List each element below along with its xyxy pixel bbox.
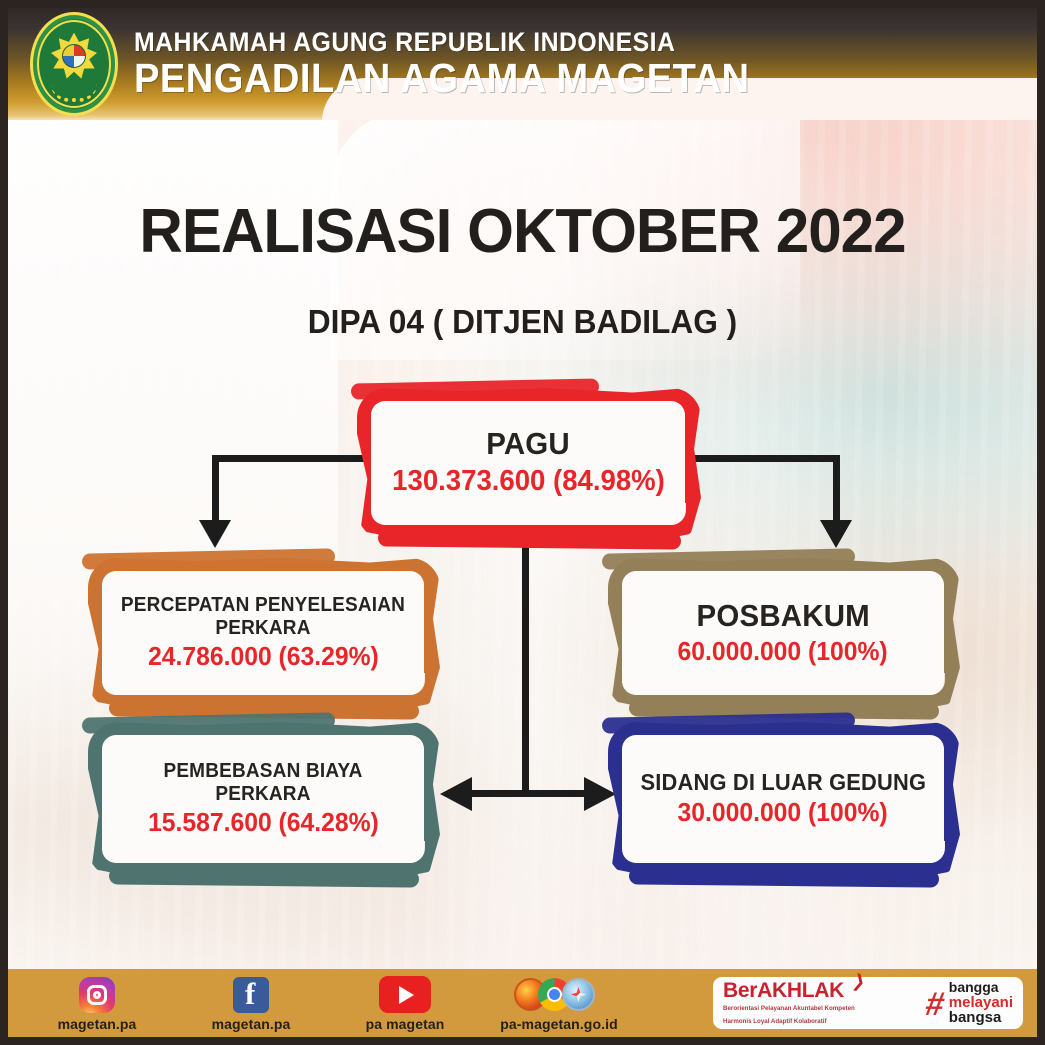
node-pagu[interactable]: PAGU 130.373.600 (84.98%)	[357, 388, 701, 540]
hash-icon: #	[924, 987, 948, 1020]
brush-bottom	[109, 867, 419, 887]
node-posbakum[interactable]: POSBAKUM 60.000.000 (100%)	[608, 558, 960, 710]
header-line1: MAHKAMAH AGUNG REPUBLIK INDONESIA	[134, 29, 743, 56]
node-face: POSBAKUM 60.000.000 (100%)	[622, 571, 944, 695]
node-label: PAGU	[486, 427, 570, 462]
social-caption: magetan.pa	[38, 1016, 156, 1032]
berakhlak-tagline-2: Harmonis Loyal Adaptif Kolaboratif	[723, 1017, 855, 1026]
connector-horizontal-bottom	[468, 790, 584, 797]
header-content: MAHKAMAH AGUNG REPUBLIK INDONESIA PENGAD…	[8, 8, 1037, 120]
berakhlak-logo: BerAKHLAK❭ Berorientasi Pelayanan Akunta…	[713, 977, 1023, 1029]
page-subtitle: DIPA 04 ( DITJEN BADILAG )	[21, 303, 1024, 341]
berakhlak-main: AKHLAK	[757, 979, 844, 1002]
node-label: POSBAKUM	[696, 599, 869, 634]
node-face: PAGU 130.373.600 (84.98%)	[371, 401, 685, 525]
slogan-lines: bangga melayani bangsa	[949, 980, 1013, 1025]
node-value: 60.000.000 (100%)	[678, 637, 888, 667]
slogan-line-1: bangga	[949, 980, 1013, 994]
arrow-left-icon	[440, 777, 472, 811]
node-face: PERCEPATAN PENYELESAIAN PERKARA 24.786.0…	[102, 571, 424, 695]
slogan-line-3: bangsa	[949, 1010, 1013, 1025]
page-title: REALISASI OKTOBER 2022	[16, 196, 1030, 267]
bangga-melayani-bangsa: # bangga melayani bangsa	[926, 980, 1013, 1025]
social-caption: pa-magetan.go.id	[500, 1016, 618, 1032]
connector-vertical-left	[212, 455, 219, 527]
arrow-down-left-icon	[199, 520, 231, 548]
social-links: magetan.pa f magetan.pa pa magetan	[8, 975, 713, 1032]
node-face: PEMBEBASAN BIAYA PERKARA 15.587.600 (64.…	[102, 735, 424, 863]
seal-crest	[62, 44, 86, 68]
header-titles: MAHKAMAH AGUNG REPUBLIK INDONESIA PENGAD…	[134, 29, 796, 100]
node-label: PERCEPATAN PENYELESAIAN PERKARA	[120, 594, 407, 639]
berakhlak-tagline-1: Berorientasi Pelayanan Akuntabel Kompete…	[723, 1004, 855, 1013]
node-value: 130.373.600 (84.98%)	[392, 465, 665, 498]
node-value: 30.000.000 (100%)	[678, 798, 888, 828]
berakhlak-word: BerAKHLAK❭	[723, 980, 855, 1001]
node-value: 24.786.000 (63.29%)	[148, 642, 379, 672]
brush-bottom	[629, 867, 939, 887]
node-face: SIDANG DI LUAR GEDUNG 30.000.000 (100%)	[622, 735, 944, 863]
social-caption: magetan.pa	[192, 1016, 310, 1032]
social-caption: pa magetan	[346, 1016, 464, 1032]
brush-bottom	[378, 529, 681, 549]
berakhlak-prefix: Ber	[723, 979, 757, 1002]
header-line2: PENGADILAN AGAMA MAGETAN	[134, 58, 750, 100]
youtube-icon[interactable]	[346, 975, 464, 1015]
node-value: 15.587.600 (64.28%)	[148, 808, 379, 838]
seal-icon	[30, 12, 118, 116]
social-instagram[interactable]: magetan.pa	[38, 975, 156, 1032]
instagram-icon[interactable]	[38, 975, 156, 1015]
node-label: SIDANG DI LUAR GEDUNG	[640, 770, 926, 796]
page-footer: magetan.pa f magetan.pa pa magetan	[8, 969, 1037, 1037]
social-youtube[interactable]: pa magetan	[346, 975, 464, 1032]
infographic-poster: MAHKAMAH AGUNG REPUBLIK INDONESIA PENGAD…	[0, 0, 1045, 1045]
node-percepatan-penyelesaian-perkara[interactable]: PERCEPATAN PENYELESAIAN PERKARA 24.786.0…	[88, 558, 440, 710]
node-pembebasan-biaya-perkara[interactable]: PEMBEBASAN BIAYA PERKARA 15.587.600 (64.…	[88, 722, 440, 878]
social-website[interactable]: pa-magetan.go.id	[500, 975, 618, 1032]
node-label: PEMBEBASAN BIAYA PERKARA	[120, 760, 407, 805]
connector-vertical-right	[833, 455, 840, 527]
arrow-down-right-icon	[820, 520, 852, 548]
social-facebook[interactable]: f magetan.pa	[192, 975, 310, 1032]
node-sidang-di-luar-gedung[interactable]: SIDANG DI LUAR GEDUNG 30.000.000 (100%)	[608, 722, 960, 878]
berakhlak-tick-icon: ❭	[850, 972, 868, 992]
facebook-icon[interactable]: f	[192, 975, 310, 1015]
slogan-line-2: melayani	[949, 995, 1013, 1010]
berakhlak-wordmark: BerAKHLAK❭ Berorientasi Pelayanan Akunta…	[723, 980, 855, 1026]
page-header: MAHKAMAH AGUNG REPUBLIK INDONESIA PENGAD…	[8, 8, 1037, 120]
safari-icon	[562, 978, 595, 1011]
browsers-icon[interactable]	[500, 975, 618, 1015]
